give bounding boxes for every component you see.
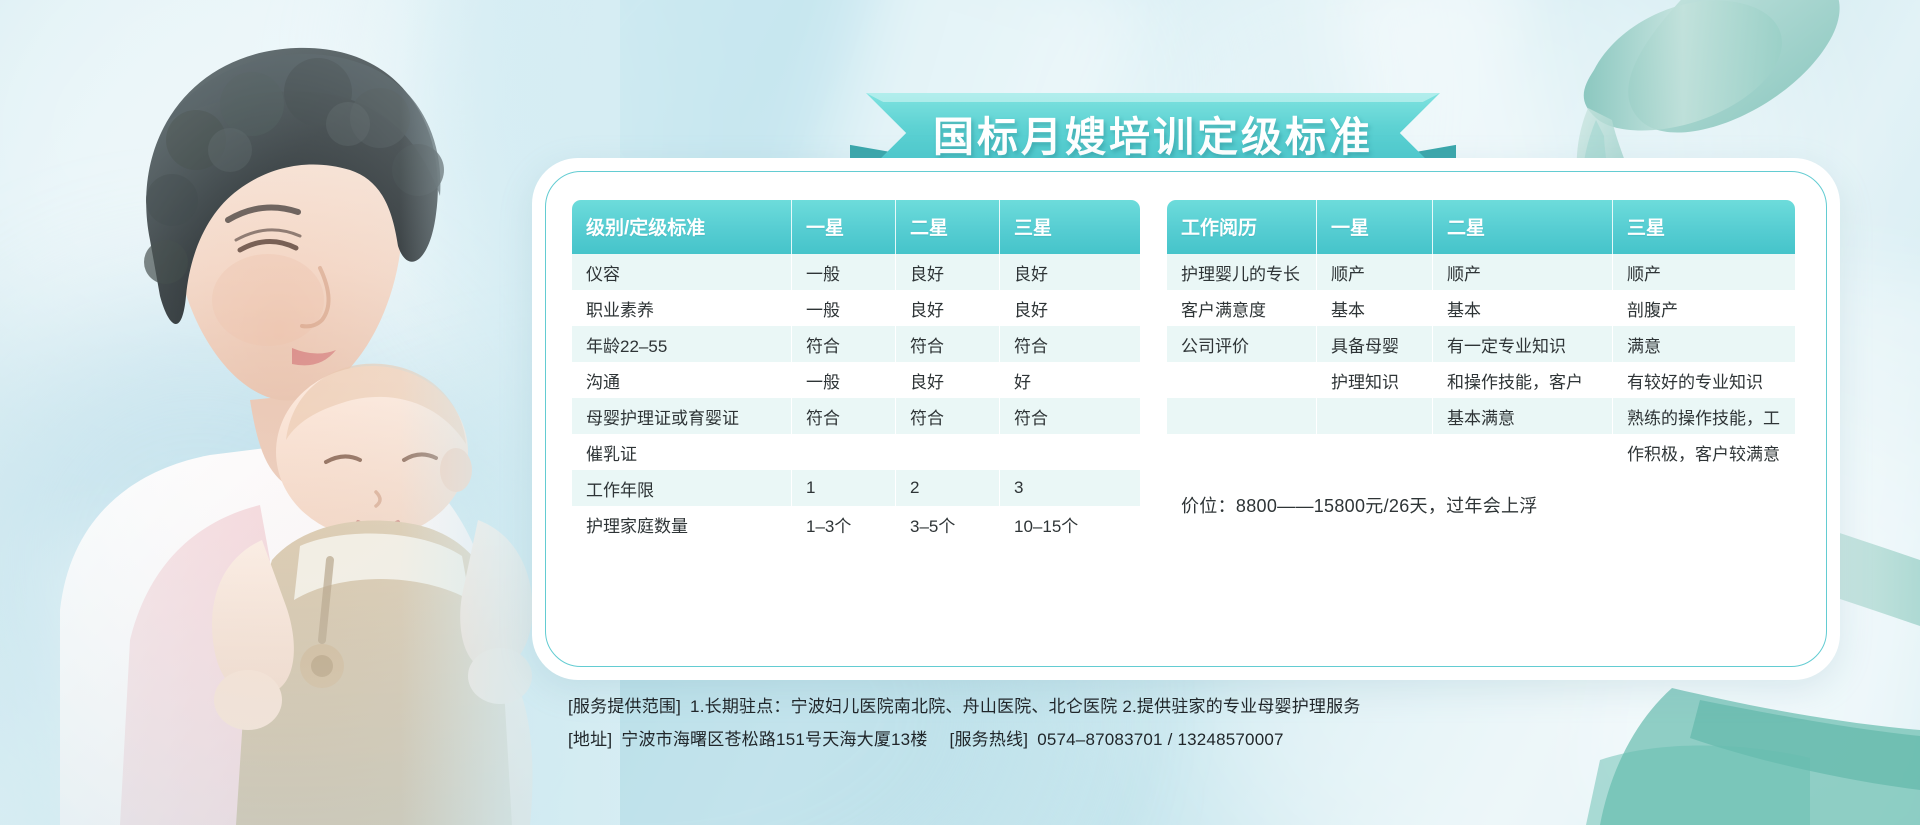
cell-three-star: 3 bbox=[1000, 470, 1140, 506]
cell-two-star: 符合 bbox=[896, 326, 1000, 362]
grading-standard-table: 级别/定级标准 一星 二星 三星 仪容 一般 良好 良好 bbox=[572, 200, 1140, 542]
cell-three-star: 顺产 bbox=[1613, 254, 1795, 290]
cell-two-star bbox=[896, 434, 1000, 470]
cell-two-star: 顺产 bbox=[1433, 254, 1613, 290]
table-header-row: 级别/定级标准 一星 二星 三星 bbox=[572, 200, 1140, 254]
row-label: 催乳证 bbox=[572, 434, 792, 470]
cell-one-star bbox=[792, 434, 896, 470]
cell-two-star: 符合 bbox=[896, 398, 1000, 434]
table-row: 仪容 一般 良好 良好 bbox=[572, 254, 1140, 290]
row-label: 护理婴儿的专长 bbox=[1167, 254, 1317, 290]
cell-two-star: 基本满意 bbox=[1433, 398, 1613, 434]
cell-three-star: 好 bbox=[1000, 362, 1140, 398]
column-header-criteria: 级别/定级标准 bbox=[572, 200, 792, 254]
column-header-one-star: 一星 bbox=[792, 200, 896, 254]
row-label: 工作年限 bbox=[572, 470, 792, 506]
cell-one-star: 一般 bbox=[792, 362, 896, 398]
table-row: 职业素养 一般 良好 良好 bbox=[572, 290, 1140, 326]
column-header-one-star: 一星 bbox=[1317, 200, 1433, 254]
cell-three-star: 熟练的操作技能，工 bbox=[1613, 398, 1795, 434]
table-row: 工作年限 1 2 3 bbox=[572, 470, 1140, 506]
hotline-text: 0574–87083701 / 13248570007 bbox=[1037, 730, 1283, 749]
table-row: 作积极，客户较满意 bbox=[1167, 434, 1795, 470]
cell-three-star: 良好 bbox=[1000, 254, 1140, 290]
right-table-wrapper: 工作阅历 一星 二星 三星 护理婴儿的专长 顺产 顺产 顺产 bbox=[1167, 200, 1795, 518]
row-label: 年龄22–55 bbox=[572, 326, 792, 362]
table-row: 客户满意度 基本 基本 剖腹产 bbox=[1167, 290, 1795, 326]
cell-three-star: 有较好的专业知识 bbox=[1613, 362, 1795, 398]
column-header-three-star: 三星 bbox=[1613, 200, 1795, 254]
table-row: 沟通 一般 良好 好 bbox=[572, 362, 1140, 398]
address-hotline-line: [地址]宁波市海曙区苍松路151号天海大厦13楼[服务热线]0574–87083… bbox=[568, 723, 1768, 756]
cell-two-star: 3–5个 bbox=[896, 506, 1000, 542]
cell-one-star bbox=[1317, 434, 1433, 470]
price-note: 价位：8800——15800元/26天，过年会上浮 bbox=[1167, 492, 1795, 518]
row-label: 客户满意度 bbox=[1167, 290, 1317, 326]
cell-one-star: 符合 bbox=[792, 398, 896, 434]
cell-one-star: 一般 bbox=[792, 290, 896, 326]
cell-two-star: 基本 bbox=[1433, 290, 1613, 326]
row-label: 公司评价 bbox=[1167, 326, 1317, 362]
table-row: 基本满意 熟练的操作技能，工 bbox=[1167, 398, 1795, 434]
row-label bbox=[1167, 398, 1317, 434]
cell-two-star: 良好 bbox=[896, 290, 1000, 326]
table-row: 护理家庭数量 1–3个 3–5个 10–15个 bbox=[572, 506, 1140, 542]
row-label: 母婴护理证或育婴证 bbox=[572, 398, 792, 434]
cell-two-star bbox=[1433, 434, 1613, 470]
cell-three-star: 符合 bbox=[1000, 326, 1140, 362]
cell-one-star bbox=[1317, 398, 1433, 434]
work-experience-table: 工作阅历 一星 二星 三星 护理婴儿的专长 顺产 顺产 顺产 bbox=[1167, 200, 1795, 470]
cell-three-star: 作积极，客户较满意 bbox=[1613, 434, 1795, 470]
address-text: 宁波市海曙区苍松路151号天海大厦13楼 bbox=[621, 730, 927, 749]
row-label bbox=[1167, 362, 1317, 398]
cell-one-star: 1 bbox=[792, 470, 896, 506]
service-scope-text: 1.长期驻点：宁波妇儿医院南北院、舟山医院、北仑医院 2.提供驻家的专业母婴护理… bbox=[690, 697, 1360, 716]
cell-three-star: 良好 bbox=[1000, 290, 1140, 326]
table-header-row: 工作阅历 一星 二星 三星 bbox=[1167, 200, 1795, 254]
cell-two-star: 2 bbox=[896, 470, 1000, 506]
table-row: 母婴护理证或育婴证 符合 符合 符合 bbox=[572, 398, 1140, 434]
service-scope-line: [服务提供范围]1.长期驻点：宁波妇儿医院南北院、舟山医院、北仑医院 2.提供驻… bbox=[568, 690, 1768, 723]
cell-one-star: 符合 bbox=[792, 326, 896, 362]
table-row: 护理婴儿的专长 顺产 顺产 顺产 bbox=[1167, 254, 1795, 290]
column-header-three-star: 三星 bbox=[1000, 200, 1140, 254]
column-header-two-star: 二星 bbox=[1433, 200, 1613, 254]
table-row: 公司评价 具备母婴 有一定专业知识 满意 bbox=[1167, 326, 1795, 362]
column-header-experience: 工作阅历 bbox=[1167, 200, 1317, 254]
cell-three-star: 满意 bbox=[1613, 326, 1795, 362]
cell-three-star: 剖腹产 bbox=[1613, 290, 1795, 326]
cell-three-star: 10–15个 bbox=[1000, 506, 1140, 542]
row-label: 仪容 bbox=[572, 254, 792, 290]
table-row: 年龄22–55 符合 符合 符合 bbox=[572, 326, 1140, 362]
cell-one-star: 顺产 bbox=[1317, 254, 1433, 290]
table-row: 护理知识 和操作技能，客户 有较好的专业知识 bbox=[1167, 362, 1795, 398]
cell-one-star: 护理知识 bbox=[1317, 362, 1433, 398]
address-label: [地址] bbox=[568, 730, 612, 749]
cell-one-star: 具备母婴 bbox=[1317, 326, 1433, 362]
hotline-label: [服务热线] bbox=[950, 730, 1029, 749]
cell-one-star: 一般 bbox=[792, 254, 896, 290]
row-label bbox=[1167, 434, 1317, 470]
service-scope-label: [服务提供范围] bbox=[568, 697, 681, 716]
cell-three-star bbox=[1000, 434, 1140, 470]
left-table-wrapper: 级别/定级标准 一星 二星 三星 仪容 一般 良好 良好 bbox=[572, 200, 1140, 542]
cell-two-star: 良好 bbox=[896, 254, 1000, 290]
banner-poster: 国标月嫂培训定级标准 级别/定级标准 一星 二星 bbox=[0, 0, 1920, 825]
table-row: 催乳证 bbox=[572, 434, 1140, 470]
row-label: 职业素养 bbox=[572, 290, 792, 326]
cell-one-star: 1–3个 bbox=[792, 506, 896, 542]
cell-three-star: 符合 bbox=[1000, 398, 1140, 434]
footer-notes: [服务提供范围]1.长期驻点：宁波妇儿医院南北院、舟山医院、北仑医院 2.提供驻… bbox=[568, 690, 1768, 756]
mother-and-baby-photo bbox=[0, 0, 620, 825]
column-header-two-star: 二星 bbox=[896, 200, 1000, 254]
content-card: 级别/定级标准 一星 二星 三星 仪容 一般 良好 良好 bbox=[532, 158, 1840, 680]
row-label: 沟通 bbox=[572, 362, 792, 398]
cell-two-star: 有一定专业知识 bbox=[1433, 326, 1613, 362]
cell-two-star: 良好 bbox=[896, 362, 1000, 398]
cell-two-star: 和操作技能，客户 bbox=[1433, 362, 1613, 398]
cell-one-star: 基本 bbox=[1317, 290, 1433, 326]
row-label: 护理家庭数量 bbox=[572, 506, 792, 542]
